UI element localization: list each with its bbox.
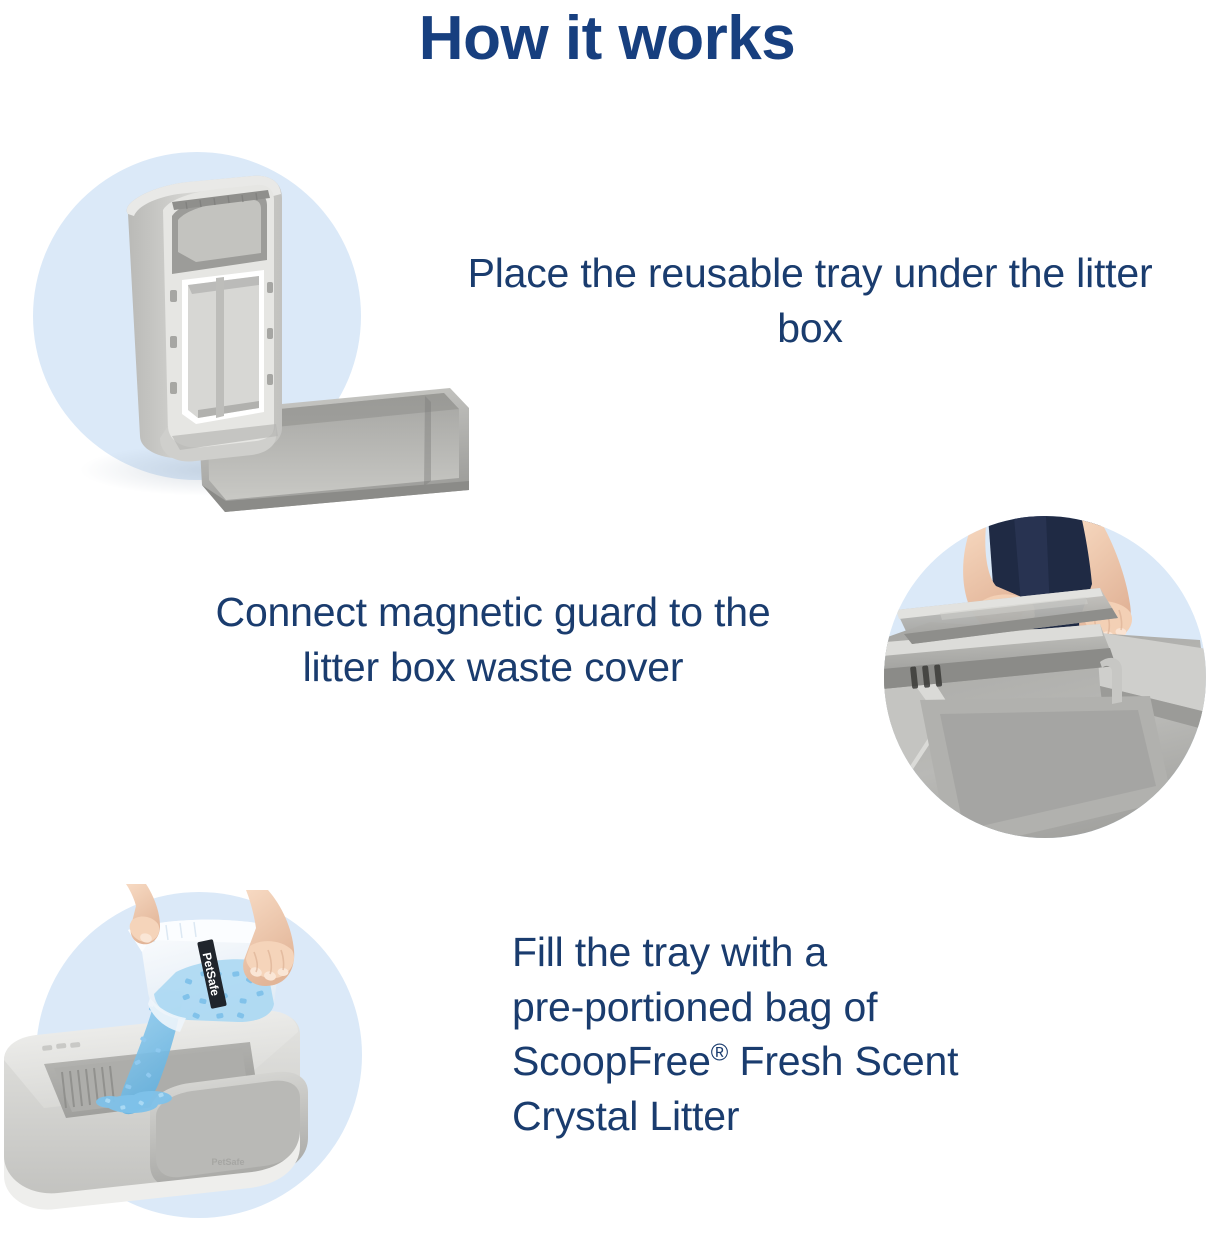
petsafe-brand-box: PetSafe — [211, 1157, 244, 1167]
step-3-caption-line-3-rest: Fresh Scent — [728, 1038, 958, 1084]
litter-box-frame — [127, 176, 282, 462]
step-2-image-magnetic-guard-attach — [800, 500, 1214, 880]
step-3-caption: Fill the tray with a pre-portioned bag o… — [512, 925, 1172, 1143]
step-1-image-litter-box-frame-with-tray — [20, 140, 490, 520]
page-title: How it works — [0, 6, 1214, 71]
step-1-caption: Place the reusable tray under the litter… — [460, 246, 1160, 355]
step-3-caption-line-1: Fill the tray with a — [512, 929, 827, 975]
step-3-caption-line-4: Crystal Litter — [512, 1093, 739, 1139]
step-2-caption: Connect magnetic guard to the litter box… — [208, 585, 778, 694]
step-3-caption-line-3-product: ScoopFree — [512, 1038, 711, 1084]
step-3-image-pouring-crystal-litter: PetSafe — [0, 880, 400, 1236]
step-3-caption-line-2: pre-portioned bag of — [512, 984, 877, 1030]
how-it-works-infographic: How it works — [0, 0, 1214, 1236]
registered-trademark-icon: ® — [711, 1039, 729, 1066]
left-hand — [126, 884, 160, 944]
